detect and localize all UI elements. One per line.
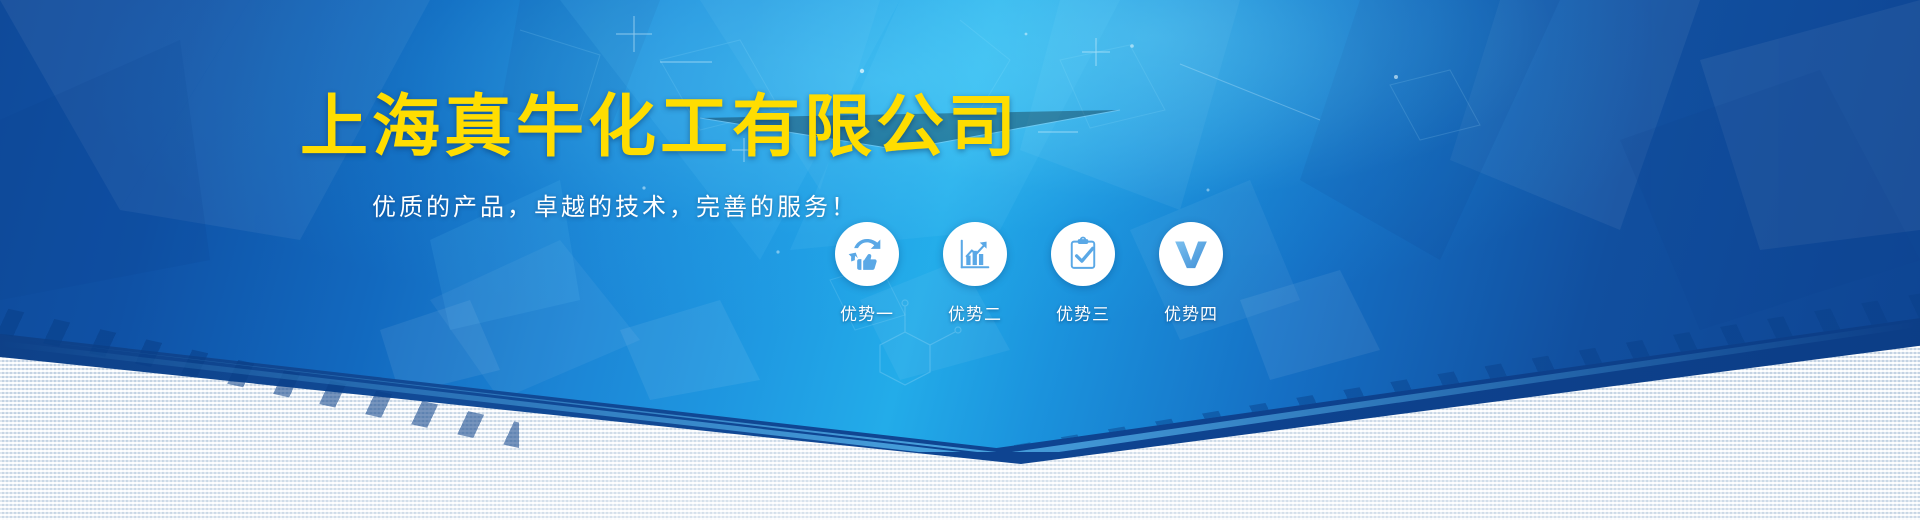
company-slogan: 优质的产品，卓越的技术，完善的服务！ — [372, 196, 858, 220]
bar-chart-growth-icon — [956, 235, 994, 273]
company-title: 上海真牛化工有限公司 — [300, 93, 1020, 161]
advantages-row: 优势一 — [828, 222, 1230, 325]
advantage-item-2[interactable]: 优势二 — [936, 222, 1014, 325]
banner-content: 上海真牛化工有限公司 优质的产品，卓越的技术，完善的服务！ — [0, 0, 1920, 520]
advantage-icon-circle-2 — [943, 222, 1007, 286]
company-banner: 上海真牛化工有限公司 优质的产品，卓越的技术，完善的服务！ — [0, 0, 1920, 520]
advantage-icon-circle-4 — [1159, 222, 1223, 286]
refresh-thumbsup-icon — [847, 234, 887, 274]
advantage-label-4: 优势四 — [1164, 300, 1218, 325]
v-check-icon — [1171, 234, 1211, 274]
advantage-icon-circle-3 — [1051, 222, 1115, 286]
clipboard-check-icon — [1065, 236, 1101, 272]
advantage-item-1[interactable]: 优势一 — [828, 222, 906, 325]
advantage-item-3[interactable]: 优势三 — [1044, 222, 1122, 325]
advantage-icon-circle-1 — [835, 222, 899, 286]
advantage-label-1: 优势一 — [840, 300, 894, 325]
advantage-label-3: 优势三 — [1056, 300, 1110, 325]
advantage-item-4[interactable]: 优势四 — [1152, 222, 1230, 325]
advantage-label-2: 优势二 — [948, 300, 1002, 325]
